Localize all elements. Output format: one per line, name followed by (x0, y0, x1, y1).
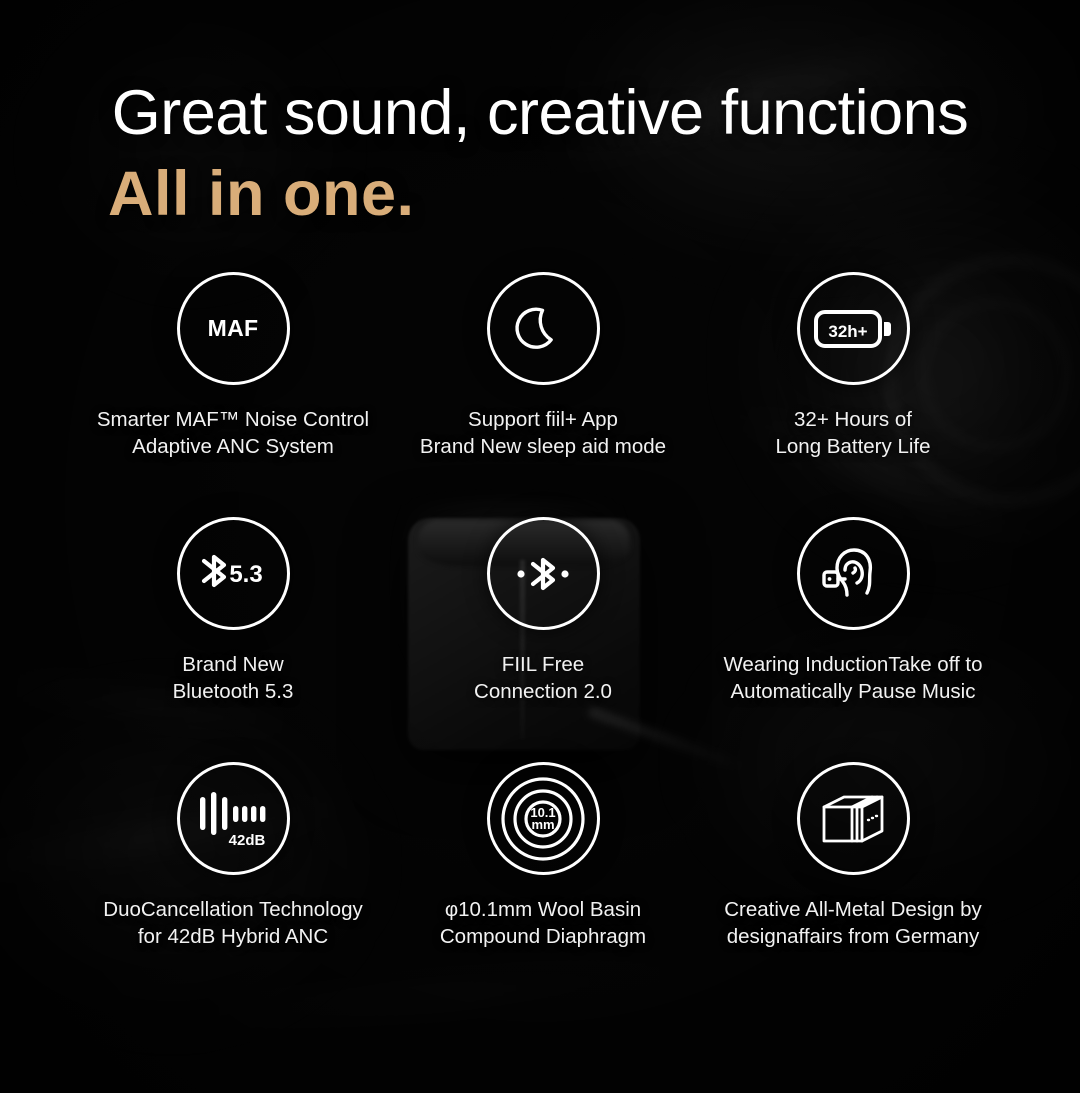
feature-caption: φ10.1mm Wool Basin Compound Diaphragm (440, 897, 646, 950)
caption-line-1: Wearing InductionTake off to (723, 652, 982, 679)
headline-accent: All in one. (0, 156, 1080, 232)
feature-caption: Support fiil+ App Brand New sleep aid mo… (420, 407, 666, 460)
headline-block: Great sound, creative functions All in o… (0, 74, 1080, 232)
feature-caption: FIIL Free Connection 2.0 (474, 652, 612, 705)
battery-icon: 32h+ (797, 272, 910, 385)
feature-caption: Smarter MAF™ Noise Control Adaptive ANC … (97, 407, 369, 460)
feature-item-bluetooth-53: 5.3 Brand New Bluetooth 5.3 (78, 517, 388, 762)
caption-line-2: Compound Diaphragm (440, 924, 646, 951)
caption-line-1: DuoCancellation Technology (103, 897, 362, 924)
caption-line-1: Support fiil+ App (420, 407, 666, 434)
bluetooth-version-label: 5.3 (229, 561, 262, 588)
battery-icon-label: 32h+ (828, 322, 867, 341)
db-value-label: 42dB (229, 832, 266, 849)
sound-wave-bars-icon: 42dB (177, 762, 290, 875)
bluetooth-dual-connection-icon (487, 517, 600, 630)
caption-line-1: φ10.1mm Wool Basin (440, 897, 646, 924)
speaker-driver-icon: 10.1 mm (487, 762, 600, 875)
feature-caption: 32+ Hours of Long Battery Life (776, 407, 931, 460)
caption-line-2: Long Battery Life (776, 434, 931, 461)
feature-item-wearing-induction: Wearing InductionTake off to Automatical… (698, 517, 1008, 762)
feature-caption: DuoCancellation Technology for 42dB Hybr… (103, 897, 362, 950)
caption-line-1: FIIL Free (474, 652, 612, 679)
feature-showcase: Great sound, creative functions All in o… (0, 0, 1080, 1093)
caption-line-2: Automatically Pause Music (723, 679, 982, 706)
feature-item-duocancellation: 42dB DuoCancellation Technology for 42dB… (78, 762, 388, 1007)
feature-item-maf-noise-control: MAF Smarter MAF™ Noise Control Adaptive … (78, 272, 388, 517)
maf-icon-label: MAF (208, 315, 259, 342)
caption-line-1: Smarter MAF™ Noise Control (97, 407, 369, 434)
driver-size-unit: mm (531, 817, 554, 832)
caption-line-1: Brand New (173, 652, 294, 679)
maf-badge-icon: MAF (177, 272, 290, 385)
feature-item-fiil-free-connection: FIIL Free Connection 2.0 (388, 517, 698, 762)
caption-line-2: Bluetooth 5.3 (173, 679, 294, 706)
headline-primary: Great sound, creative functions (0, 74, 1080, 152)
feature-item-all-metal-design: Creative All-Metal Design by designaffai… (698, 762, 1008, 1007)
crescent-moon-icon (487, 272, 600, 385)
ear-with-earbud-icon (797, 517, 910, 630)
caption-line-2: Brand New sleep aid mode (420, 434, 666, 461)
bluetooth-icon: 5.3 (177, 517, 290, 630)
feature-item-sleep-aid-mode: Support fiil+ App Brand New sleep aid mo… (388, 272, 698, 517)
caption-line-2: designaffairs from Germany (724, 924, 982, 951)
metal-charging-case-icon (797, 762, 910, 875)
feature-caption: Brand New Bluetooth 5.3 (173, 652, 294, 705)
feature-caption: Wearing InductionTake off to Automatical… (723, 652, 982, 705)
caption-line-1: 32+ Hours of (776, 407, 931, 434)
feature-item-battery-life: 32h+ 32+ Hours of Long Battery Life (698, 272, 1008, 517)
feature-grid: MAF Smarter MAF™ Noise Control Adaptive … (78, 272, 1008, 1007)
caption-line-1: Creative All-Metal Design by (724, 897, 982, 924)
feature-caption: Creative All-Metal Design by designaffai… (724, 897, 982, 950)
caption-line-2: for 42dB Hybrid ANC (103, 924, 362, 951)
caption-line-2: Adaptive ANC System (97, 434, 369, 461)
caption-line-2: Connection 2.0 (474, 679, 612, 706)
feature-item-wool-basin-diaphragm: 10.1 mm φ10.1mm Wool Basin Compound Diap… (388, 762, 698, 1007)
